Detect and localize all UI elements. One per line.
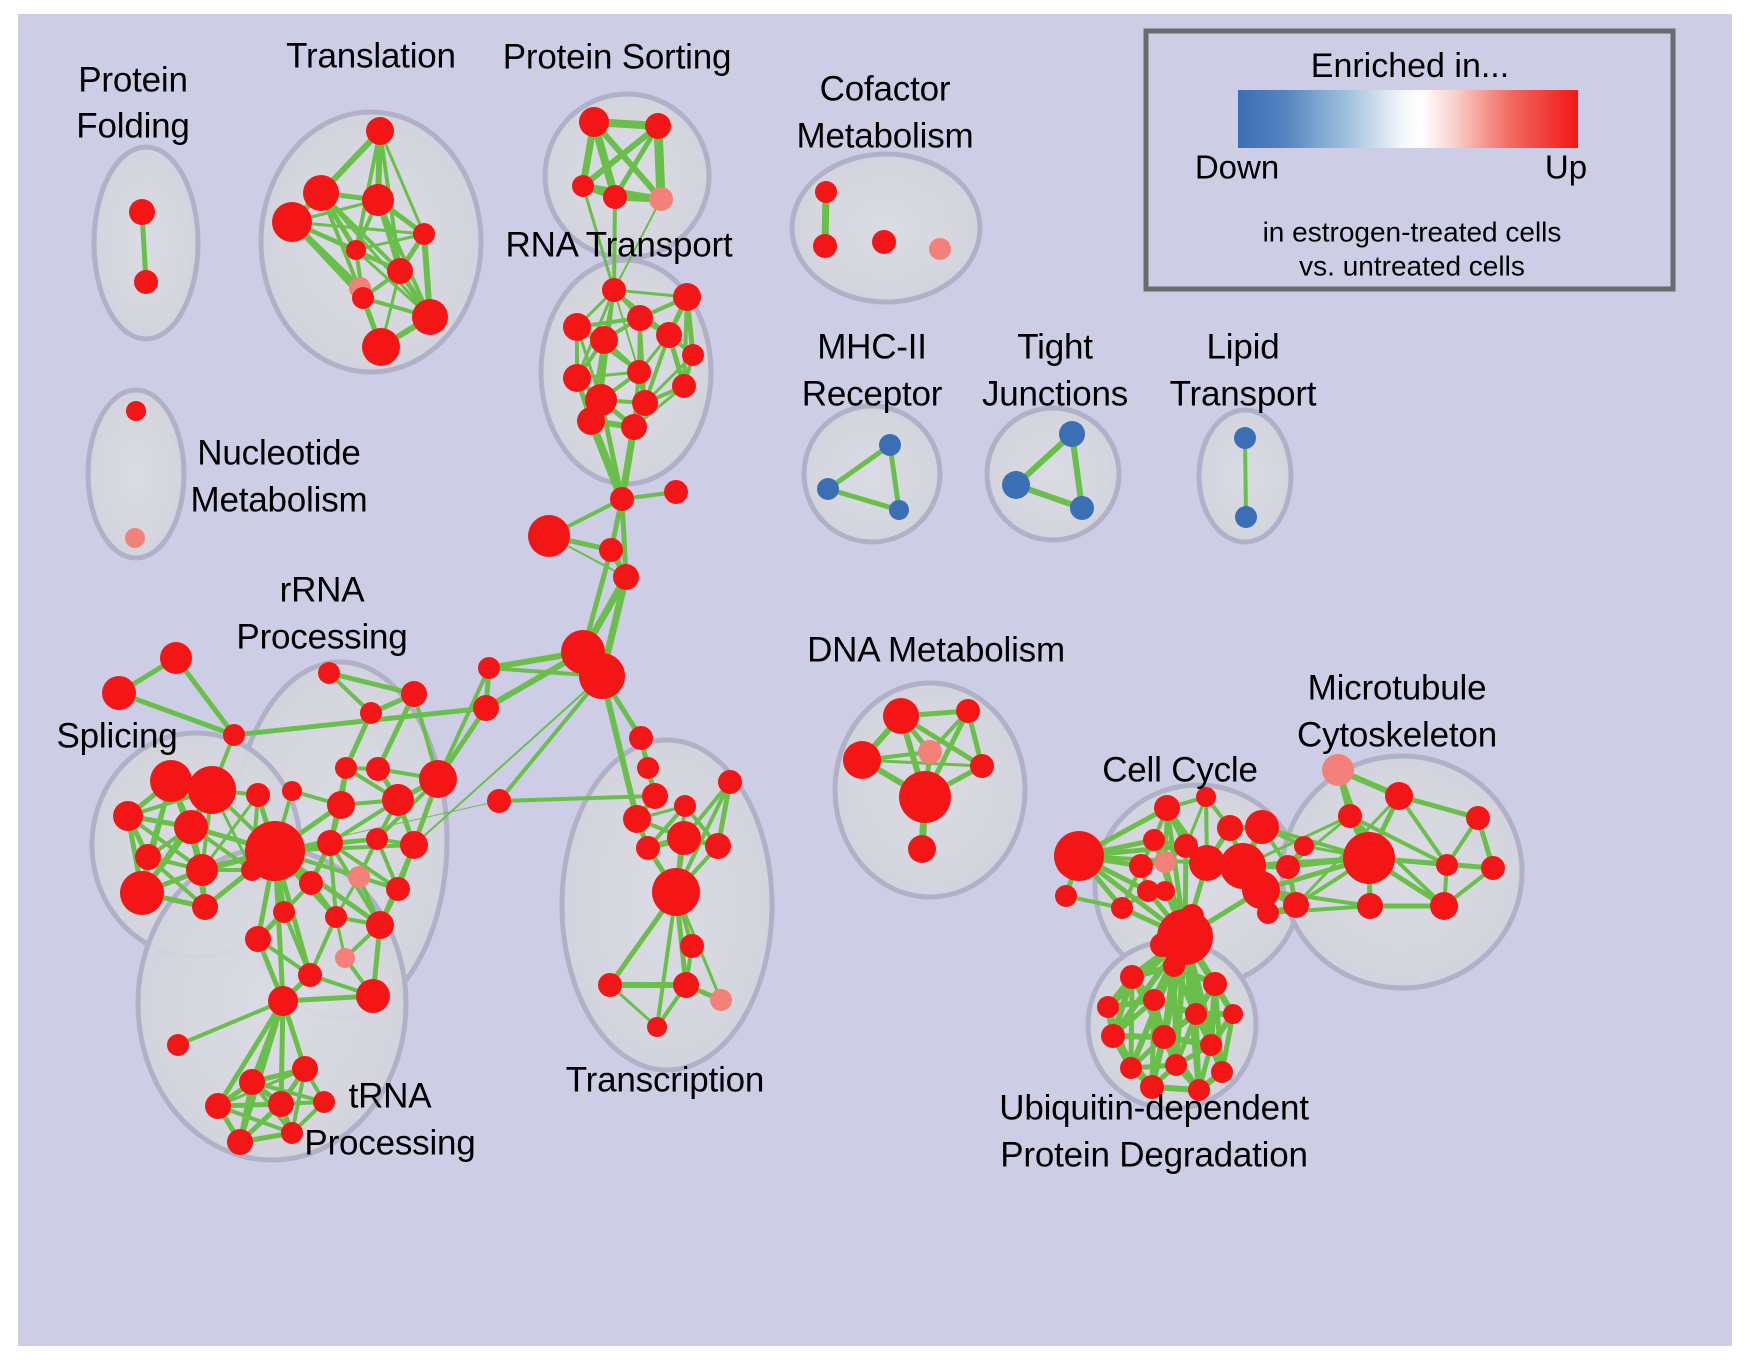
cluster-label-rrna-processing: rRNA xyxy=(280,570,366,609)
cluster-label-cofactor-metabolism: Metabolism xyxy=(797,116,974,155)
network-node[interactable] xyxy=(135,844,161,870)
network-node[interactable] xyxy=(1217,815,1243,841)
network-node[interactable] xyxy=(126,401,146,421)
network-node[interactable] xyxy=(563,364,591,392)
network-node[interactable] xyxy=(889,500,909,520)
network-node[interactable] xyxy=(186,854,218,886)
network-node[interactable] xyxy=(245,926,271,952)
network-node[interactable] xyxy=(664,480,688,504)
network-node[interactable] xyxy=(1257,902,1279,924)
cluster-label-ubiquitin: Protein Degradation xyxy=(1000,1135,1308,1174)
cluster-label-tight-junctions: Tight xyxy=(1017,327,1093,366)
network-node[interactable] xyxy=(599,538,623,562)
network-node[interactable] xyxy=(872,230,896,254)
network-node[interactable] xyxy=(1150,933,1174,957)
network-node[interactable] xyxy=(1189,845,1225,881)
network-node[interactable] xyxy=(273,901,295,923)
network-node[interactable] xyxy=(227,1129,253,1155)
network-node[interactable] xyxy=(1234,427,1256,449)
network-node[interactable] xyxy=(1185,1003,1207,1025)
cluster-label-microtubule: Microtubule xyxy=(1308,668,1487,707)
network-node[interactable] xyxy=(899,771,951,823)
network-node[interactable] xyxy=(627,360,651,384)
cluster-ellipse-tight-junctions[interactable] xyxy=(987,408,1119,540)
network-node[interactable] xyxy=(613,564,639,590)
network-node[interactable] xyxy=(1154,851,1176,873)
network-node[interactable] xyxy=(929,238,951,260)
cluster-label-protein-folding: Protein xyxy=(78,60,188,99)
network-node[interactable] xyxy=(603,185,627,209)
network-node[interactable] xyxy=(298,963,322,987)
network-node[interactable] xyxy=(1203,972,1227,996)
cluster-ellipse-cofactor-metabolism[interactable] xyxy=(792,154,980,302)
cluster-label-rna-transport: RNA Transport xyxy=(506,225,733,264)
cluster-label-trna-processing: Processing xyxy=(304,1123,475,1162)
cluster-label-mhc-ii-receptor: Receptor xyxy=(802,374,943,413)
network-node[interactable] xyxy=(1430,892,1458,920)
network-node[interactable] xyxy=(134,270,158,294)
network-node[interactable] xyxy=(188,766,236,814)
network-node[interactable] xyxy=(1154,795,1180,821)
network-node[interactable] xyxy=(817,478,839,500)
network-node[interactable] xyxy=(120,871,164,915)
network-node[interactable] xyxy=(1200,1034,1222,1056)
network-node[interactable] xyxy=(1120,965,1144,989)
network-node[interactable] xyxy=(642,783,668,809)
network-node[interactable] xyxy=(303,175,339,211)
network-node[interactable] xyxy=(1180,904,1204,928)
legend-high-label: Up xyxy=(1545,149,1587,186)
network-node[interactable] xyxy=(652,868,700,916)
network-node[interactable] xyxy=(579,107,609,137)
network-node[interactable] xyxy=(246,783,270,807)
network-node[interactable] xyxy=(268,986,298,1016)
network-node[interactable] xyxy=(598,973,622,997)
cluster-ellipse-mhc-ii-receptor[interactable] xyxy=(804,406,940,542)
legend-caption-line1: in estrogen-treated cells xyxy=(1263,216,1562,247)
network-node[interactable] xyxy=(1294,836,1314,856)
network-node[interactable] xyxy=(1466,806,1490,830)
network-node[interactable] xyxy=(1055,885,1077,907)
cluster-label-protein-folding: Folding xyxy=(76,106,189,145)
network-node[interactable] xyxy=(528,515,570,557)
network-node[interactable] xyxy=(1481,856,1505,880)
network-node[interactable] xyxy=(843,741,881,779)
network-node[interactable] xyxy=(1196,787,1216,807)
network-node[interactable] xyxy=(413,223,435,245)
network-node[interactable] xyxy=(401,681,427,707)
network-node[interactable] xyxy=(1322,754,1354,786)
network-node[interactable] xyxy=(1002,471,1030,499)
network-node[interactable] xyxy=(590,326,618,354)
network-node[interactable] xyxy=(1070,496,1094,520)
network-node[interactable] xyxy=(167,1034,189,1056)
cluster-label-cell-cycle: Cell Cycle xyxy=(1102,750,1258,789)
network-node[interactable] xyxy=(623,805,651,833)
legend-gradient-bar xyxy=(1238,90,1578,148)
network-node[interactable] xyxy=(113,801,143,831)
legend-low-label: Down xyxy=(1195,149,1279,186)
legend-title: Enriched in... xyxy=(1311,47,1509,85)
network-node[interactable] xyxy=(680,934,704,958)
network-node[interactable] xyxy=(400,831,428,859)
cluster-label-nucleotide-metab: Metabolism xyxy=(191,480,368,519)
network-node[interactable] xyxy=(673,283,701,311)
network-node[interactable] xyxy=(621,414,647,440)
network-node[interactable] xyxy=(1129,854,1153,878)
network-node[interactable] xyxy=(637,757,659,779)
network-node[interactable] xyxy=(563,313,591,341)
network-node[interactable] xyxy=(268,1091,294,1117)
network-node[interactable] xyxy=(674,795,696,817)
network-node[interactable] xyxy=(1338,804,1362,828)
network-node[interactable] xyxy=(1385,782,1413,810)
network-node[interactable] xyxy=(419,760,457,798)
cluster-label-trna-processing: tRNA xyxy=(349,1076,433,1115)
network-node[interactable] xyxy=(272,202,312,242)
network-node[interactable] xyxy=(192,894,218,920)
cluster-label-microtubule: Cytoskeleton xyxy=(1297,715,1497,754)
network-node[interactable] xyxy=(346,240,366,260)
network-node[interactable] xyxy=(382,784,414,816)
network-node[interactable] xyxy=(656,322,682,348)
network-node[interactable] xyxy=(1283,892,1309,918)
network-node[interactable] xyxy=(647,1017,667,1037)
legend-caption-line2: vs. untreated cells xyxy=(1299,250,1525,281)
network-node[interactable] xyxy=(1163,955,1185,977)
cluster-label-protein-sorting: Protein Sorting xyxy=(503,37,732,76)
network-node[interactable] xyxy=(1143,989,1165,1011)
network-node[interactable] xyxy=(1223,1004,1243,1024)
network-node[interactable] xyxy=(335,948,355,968)
network-node[interactable] xyxy=(813,234,837,258)
network-node[interactable] xyxy=(1111,897,1133,919)
cluster-label-cofactor-metabolism: Cofactor xyxy=(820,69,951,108)
network-node[interactable] xyxy=(1211,1061,1233,1083)
network-node[interactable] xyxy=(317,830,343,856)
cluster-label-rrna-processing: Processing xyxy=(236,617,407,656)
network-node[interactable] xyxy=(160,642,192,674)
cluster-label-lipid-transport: Lipid xyxy=(1207,327,1280,366)
network-node[interactable] xyxy=(386,877,410,901)
cluster-label-lipid-transport: Transport xyxy=(1170,374,1317,413)
network-node[interactable] xyxy=(412,299,448,335)
cluster-label-nucleotide-metab: Nucleotide xyxy=(197,433,360,472)
network-node[interactable] xyxy=(577,407,605,435)
network-node[interactable] xyxy=(710,989,732,1011)
network-node[interactable] xyxy=(174,810,208,844)
network-node[interactable] xyxy=(956,699,980,723)
network-node[interactable] xyxy=(125,528,145,548)
network-node[interactable] xyxy=(360,702,382,724)
cluster-label-tight-junctions: Junctions xyxy=(982,374,1128,413)
network-node[interactable] xyxy=(356,979,390,1013)
network-node[interactable] xyxy=(223,724,245,746)
network-node[interactable] xyxy=(1152,1025,1176,1049)
network-node[interactable] xyxy=(129,199,155,225)
network-node[interactable] xyxy=(327,791,355,819)
network-node[interactable] xyxy=(908,835,936,863)
network-node[interactable] xyxy=(1097,996,1119,1018)
network-node[interactable] xyxy=(282,781,302,801)
network-node[interactable] xyxy=(649,187,673,211)
network-node[interactable] xyxy=(682,344,704,366)
network-node[interactable] xyxy=(150,760,192,802)
network-node[interactable] xyxy=(1235,506,1257,528)
network-node[interactable] xyxy=(362,328,400,366)
network-node[interactable] xyxy=(366,117,394,145)
network-node[interactable] xyxy=(366,911,394,939)
network-node[interactable] xyxy=(478,657,500,679)
network-node[interactable] xyxy=(815,181,837,203)
network-node[interactable] xyxy=(1357,893,1383,919)
network-node[interactable] xyxy=(673,972,699,998)
network-node[interactable] xyxy=(645,113,671,139)
network-node[interactable] xyxy=(629,726,653,750)
network-node[interactable] xyxy=(1242,871,1280,909)
network-node[interactable] xyxy=(1165,1054,1187,1076)
network-node[interactable] xyxy=(1436,854,1458,876)
network-node[interactable] xyxy=(325,906,347,928)
network-node[interactable] xyxy=(362,184,394,216)
network-node[interactable] xyxy=(1059,421,1085,447)
network-node[interactable] xyxy=(335,757,357,779)
network-node[interactable] xyxy=(348,866,370,888)
network-node[interactable] xyxy=(292,1056,318,1082)
network-node[interactable] xyxy=(572,175,594,197)
network-node[interactable] xyxy=(1245,810,1279,844)
network-node[interactable] xyxy=(579,653,625,699)
network-node[interactable] xyxy=(667,821,701,855)
cluster-label-translation: Translation xyxy=(286,36,456,75)
cluster-label-splicing: Splicing xyxy=(57,716,178,755)
network-node[interactable] xyxy=(602,278,626,302)
network-node[interactable] xyxy=(718,770,742,794)
network-node[interactable] xyxy=(387,258,413,284)
network-edge[interactable] xyxy=(1245,438,1246,517)
network-node[interactable] xyxy=(366,757,390,781)
network-node[interactable] xyxy=(1143,829,1165,851)
cluster-label-dna-metabolism: DNA Metabolism xyxy=(807,630,1065,669)
network-node[interactable] xyxy=(883,698,919,734)
network-node[interactable] xyxy=(487,789,511,813)
network-node[interactable] xyxy=(632,390,658,416)
network-node[interactable] xyxy=(1054,831,1104,881)
network-node[interactable] xyxy=(102,676,136,710)
network-node[interactable] xyxy=(205,1093,231,1119)
network-node[interactable] xyxy=(1120,1057,1142,1079)
network-canvas: ProteinFoldingTranslationProtein Sorting… xyxy=(0,0,1750,1360)
network-node[interactable] xyxy=(970,754,994,778)
network-node[interactable] xyxy=(281,1122,303,1144)
network-node[interactable] xyxy=(318,662,340,684)
network-node[interactable] xyxy=(636,836,660,860)
network-node[interactable] xyxy=(1101,1024,1125,1048)
network-node[interactable] xyxy=(239,1069,265,1095)
network-node[interactable] xyxy=(879,434,901,456)
cluster-label-mhc-ii-receptor: MHC-II xyxy=(817,327,927,366)
network-node[interactable] xyxy=(610,487,634,511)
network-node[interactable] xyxy=(918,740,942,764)
network-node[interactable] xyxy=(313,1091,335,1113)
network-node[interactable] xyxy=(245,821,305,881)
network-node[interactable] xyxy=(366,828,388,850)
network-node[interactable] xyxy=(473,695,499,721)
network-node[interactable] xyxy=(352,287,374,309)
enrichment-network-figure: ProteinFoldingTranslationProtein Sorting… xyxy=(0,0,1750,1360)
network-node[interactable] xyxy=(705,833,731,859)
network-node[interactable] xyxy=(1155,881,1175,901)
network-node[interactable] xyxy=(627,305,653,331)
cluster-label-ubiquitin: Ubiquitin-dependent xyxy=(999,1088,1309,1127)
cluster-label-transcription: Transcription xyxy=(566,1060,764,1099)
network-node[interactable] xyxy=(672,374,696,398)
network-node[interactable] xyxy=(299,871,323,895)
network-node[interactable] xyxy=(1276,855,1300,879)
network-node[interactable] xyxy=(1343,832,1395,884)
